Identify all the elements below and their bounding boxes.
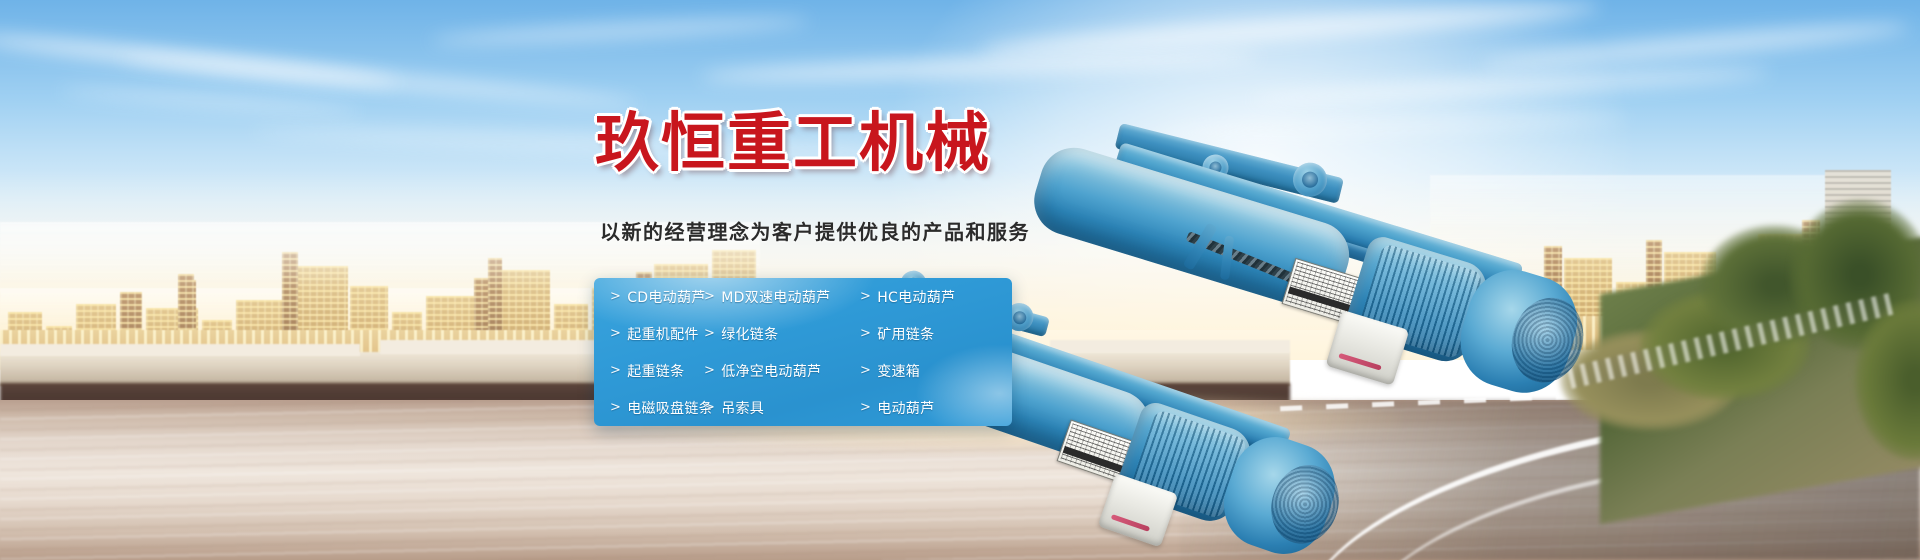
product-label: 变速箱: [877, 361, 920, 381]
product-label: 吊索具: [721, 398, 764, 418]
product-list-grid: > CD电动葫芦 > MD双速电动葫芦 > HC电动葫芦 > 起重机配件 >: [594, 278, 1012, 426]
product-link-electric-hoist[interactable]: > 电动葫芦: [842, 398, 1012, 418]
product-link-mining-chain[interactable]: > 矿用链条: [842, 324, 1012, 344]
banner-content: 玖恒重工机械 以新的经营理念为客户提供优良的产品和服务 > CD电动葫芦 > M…: [0, 0, 1920, 560]
product-label: 绿化链条: [721, 324, 778, 344]
product-link-gearbox[interactable]: > 变速箱: [842, 361, 1012, 381]
chevron-right-icon: >: [860, 326, 871, 341]
promotional-banner: 玖恒重工机械 以新的经营理念为客户提供优良的产品和服务 > CD电动葫芦 > M…: [0, 0, 1920, 560]
chevron-right-icon: >: [860, 363, 871, 378]
product-label: 电动葫芦: [877, 398, 934, 418]
product-link-lifting-chain[interactable]: > 起重链条: [594, 361, 702, 381]
product-label: HC电动葫芦: [877, 287, 955, 307]
product-label: 电磁吸盘链条: [627, 398, 713, 418]
product-link-crane-parts[interactable]: > 起重机配件: [594, 324, 702, 344]
product-link-md-dual-speed-hoist[interactable]: > MD双速电动葫芦: [702, 287, 842, 307]
chevron-right-icon: >: [704, 363, 715, 378]
chevron-right-icon: >: [860, 289, 871, 304]
chevron-right-icon: >: [610, 400, 621, 415]
company-tagline: 以新的经营理念为客户提供优良的产品和服务: [600, 216, 1030, 245]
chevron-right-icon: >: [610, 326, 621, 341]
product-link-low-headroom-hoist[interactable]: > 低净空电动葫芦: [702, 361, 842, 381]
chevron-right-icon: >: [704, 289, 715, 304]
chevron-right-icon: >: [860, 400, 871, 415]
product-link-magnetic-chuck-chain[interactable]: > 电磁吸盘链条: [594, 398, 702, 418]
product-link-greening-chain[interactable]: > 绿化链条: [702, 324, 842, 344]
chevron-right-icon: >: [610, 363, 621, 378]
chevron-right-icon: >: [610, 289, 621, 304]
product-label: 起重链条: [627, 361, 684, 381]
product-label: 起重机配件: [627, 324, 699, 344]
product-label: 低净空电动葫芦: [721, 361, 821, 381]
product-link-lifting-sling[interactable]: > 吊索具: [702, 398, 842, 418]
product-link-cd-hoist[interactable]: > CD电动葫芦: [594, 287, 702, 307]
product-label: CD电动葫芦: [627, 287, 705, 307]
chevron-right-icon: >: [704, 400, 715, 415]
chevron-right-icon: >: [704, 326, 715, 341]
product-label: MD双速电动葫芦: [721, 287, 830, 307]
product-label: 矿用链条: [877, 324, 934, 344]
product-link-hc-hoist[interactable]: > HC电动葫芦: [842, 287, 1012, 307]
product-list-panel: > CD电动葫芦 > MD双速电动葫芦 > HC电动葫芦 > 起重机配件 >: [594, 278, 1012, 426]
company-title: 玖恒重工机械: [595, 112, 991, 176]
